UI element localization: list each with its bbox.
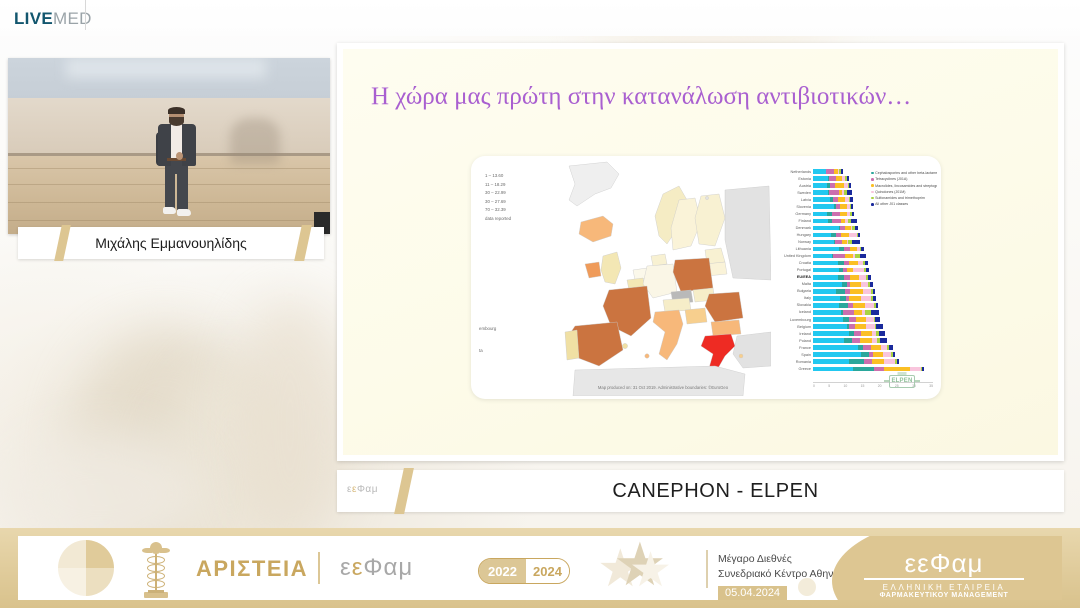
map-inset-label: ta [479, 348, 483, 353]
chart-bar [813, 289, 875, 294]
chart-row-label: Germany [773, 212, 813, 216]
chart-bar-segment [813, 359, 849, 364]
chart-bar [813, 212, 854, 217]
chart-x-tick: 0 [813, 384, 815, 392]
chart-bar-segment [873, 296, 876, 301]
chart-bar-segment [813, 190, 828, 195]
livemed-logo: LIVEMED [14, 9, 92, 29]
chart-bar [813, 359, 899, 364]
chart-bar-segment [850, 197, 853, 202]
chart-bar-segment [861, 331, 872, 336]
map-legend: 1 – 13.60 11 – 18.29 30 – 22.99 30 – 27.… [485, 172, 551, 223]
chart-bar-segment [876, 324, 883, 329]
chart-bar-segment [860, 338, 872, 343]
chart-bar-segment [841, 169, 843, 174]
chart-bar-segment [813, 367, 853, 372]
chart-row-label: United Kingdom [773, 254, 813, 258]
leaf-decoration-icon [58, 540, 114, 596]
chart-bar-segment [854, 310, 862, 315]
footer-divider [318, 552, 320, 584]
event-date-badge: 05.04.2024 [718, 586, 787, 600]
chart-bar-segment [849, 261, 857, 266]
chart-row: Iceland [773, 309, 937, 316]
chart-bar-segment [813, 303, 839, 308]
chart-row-label: France [773, 346, 813, 350]
chart-row: Bulgaria [773, 288, 937, 295]
caduceus-trophy-icon [136, 540, 176, 598]
chart-bar-segment [813, 197, 830, 202]
eefam-small-logo: εεΦαμ [347, 484, 378, 495]
chart-row-label: Slovenia [773, 205, 813, 209]
chart-bar-segment [835, 240, 843, 245]
chart-bar-segment [813, 289, 836, 294]
chart-bar-segment [868, 275, 871, 280]
chart-row-label: Italy [773, 296, 813, 300]
chart-bar-segment [865, 261, 868, 266]
chart-row-label: EU/EEA [773, 275, 813, 279]
chart-bar-segment [813, 345, 858, 350]
chart-bar-segment [852, 212, 854, 217]
chart-row-label: Denmark [773, 226, 813, 230]
eefam-mark-big: εεΦαμ [844, 550, 1044, 576]
chart-row: Romania [773, 358, 937, 365]
venue-name: Μέγαρο Διεθνές Συνεδριακό Κέντρο Αθηνών [718, 552, 847, 582]
header-divider [85, 0, 86, 30]
chart-bar-segment [813, 268, 839, 273]
chart-bar-segment [897, 359, 899, 364]
chart-bar-segment [836, 289, 845, 294]
wall-shadow [230, 118, 280, 164]
chart-bar-segment [840, 212, 847, 217]
chart-row: Luxembourg [773, 316, 937, 323]
chart-bar-segment [849, 296, 861, 301]
screen-highlight [66, 58, 266, 78]
chart-bar-segment [876, 303, 878, 308]
chart-bar-segment [853, 303, 865, 308]
chart-bar-segment [852, 240, 860, 245]
chart-bar-segment [813, 310, 841, 315]
chart-bar-segment [813, 183, 827, 188]
chart-bar-segment [813, 204, 834, 209]
map-legend-item: 70 – 32.39 [485, 206, 551, 215]
chart-bar [813, 275, 871, 280]
chart-bar-segment [839, 303, 847, 308]
chart-row-label: Luxembourg [773, 318, 813, 322]
chart-bar [813, 338, 887, 343]
chart-row: Portugal [773, 267, 937, 274]
chart-bar-segment [826, 169, 833, 174]
chart-row: Norway [773, 238, 937, 245]
chart-row: United Kingdom [773, 253, 937, 260]
session-title: CANEPHON - ELPEN [337, 480, 1064, 503]
chart-bar-segment [884, 359, 896, 364]
map-legend-item: data reported [485, 215, 551, 224]
chart-row-label: Spain [773, 353, 813, 357]
award-label: ΑΡΙΣΤΕΙΑ [196, 556, 308, 582]
chart-legend-item: All other J01 classes [871, 201, 937, 207]
chart-row-label: Greece [773, 367, 813, 371]
chart-x-tick: 5 [828, 384, 830, 392]
chart-row-label: Norway [773, 240, 813, 244]
chart-x-tick: 15 [861, 384, 865, 392]
venue-line-1: Μέγαρο Διεθνές [718, 552, 847, 567]
years-badge: 2022 2024 [478, 558, 570, 584]
venue-line-2: Συνεδριακό Κέντρο Αθηνών [718, 567, 847, 582]
chart-row: Slovakia [773, 302, 937, 309]
chart-row-label: Belgium [773, 325, 813, 329]
chart-bar-segment [813, 317, 843, 322]
chart-row: EU/EEA [773, 274, 937, 281]
chart-bar-segment [871, 310, 879, 315]
logo-live-text: LIVE [14, 9, 53, 28]
chart-row-label: Hungary [773, 233, 813, 237]
blur-shape [235, 300, 345, 550]
chart-bar-segment [813, 212, 827, 217]
chart-row-label: Sweden [773, 191, 813, 195]
chart-row: France [773, 344, 937, 351]
chart-bar-segment [843, 310, 854, 315]
name-plate-accent-left [54, 225, 71, 261]
chart-bar-segment [855, 324, 866, 329]
chart-row-label: Austria [773, 184, 813, 188]
chart-bar-segment [861, 352, 869, 357]
chart-row: Germany [773, 210, 937, 217]
society-line-1: ΕΛΛΗΝΙΚΗ ΕΤΑΙΡΕΙΑ [844, 583, 1044, 592]
chart-bar [813, 176, 849, 181]
chart-row-label: Bulgaria [773, 289, 813, 293]
chart-bar-segment [866, 317, 874, 322]
chart-bar-segment [849, 183, 852, 188]
chart-bar-segment [844, 338, 852, 343]
chart-bar-segment [853, 367, 873, 372]
chart-bar-segment [813, 338, 844, 343]
chart-bar [813, 190, 852, 195]
chart-bar-segment [873, 289, 875, 294]
speaker-name: Μιχάλης Εμμανουηλίδης [95, 235, 247, 251]
chart-row: Malta [773, 281, 937, 288]
footer-inner: ΑΡΙΣΤΕΙΑ εεΦαμ 2022 2024 ★ ★ ★ Μέγαρο Δι… [18, 536, 1062, 600]
chart-row-label: Latvia [773, 198, 813, 202]
chart-bar-segment [860, 254, 867, 259]
chart-bar-segment [813, 275, 838, 280]
map-legend-item: 11 – 18.29 [485, 181, 551, 190]
chart-bar-segment [863, 289, 872, 294]
antibiotic-consumption-bar-chart: NetherlandsEstoniaAustriaSwedenLatviaSlo… [773, 162, 937, 394]
chart-bar-segment [835, 183, 844, 188]
chart-bar [813, 261, 868, 266]
eefam-rule [864, 578, 1024, 580]
chart-row: Poland [773, 337, 937, 344]
chart-bar-segment [845, 254, 853, 259]
chart-bar-segment [838, 197, 845, 202]
chart-bar-segment [813, 331, 849, 336]
chart-bar [813, 268, 869, 273]
chart-bar-segment [813, 254, 832, 259]
chart-bar-segment [889, 345, 893, 350]
chart-bar-segment [841, 233, 849, 238]
chart-bar [813, 204, 853, 209]
chart-row-label: Romania [773, 360, 813, 364]
chart-bar-segment [865, 303, 874, 308]
chart-row: Hungary [773, 231, 937, 238]
map-inset-label: embourg [479, 326, 496, 331]
chart-row: Spain [773, 351, 937, 358]
chart-bar-segment [832, 219, 841, 224]
year-from: 2022 [479, 559, 526, 583]
chart-bar [813, 169, 843, 174]
chart-bar-segment [851, 219, 857, 224]
footer-banner: ΑΡΙΣΤΕΙΑ εεΦαμ 2022 2024 ★ ★ ★ Μέγαρο Δι… [0, 528, 1080, 608]
chart-row: Ireland [773, 330, 937, 337]
slide-container[interactable]: Η χώρα μας πρώτη στην κατανάλωση αντιβιο… [337, 43, 1064, 461]
chart-bar-segment [859, 275, 867, 280]
chart-bar [813, 197, 853, 202]
chart-bar-segment [813, 352, 861, 357]
chart-bar-segment [861, 296, 871, 301]
chart-bar [813, 296, 876, 301]
chart-bar-segment [849, 233, 857, 238]
stage-screen [8, 58, 330, 100]
chart-row-label: Estonia [773, 177, 813, 181]
chart-bar-segment [813, 247, 839, 252]
chart-bar [813, 226, 858, 231]
chart-row: Croatia [773, 260, 937, 267]
chart-bar-segment [871, 345, 881, 350]
chart-bar [813, 345, 893, 350]
elpen-logo-text: ELPEN [889, 375, 915, 388]
chart-bar-segment [855, 226, 858, 231]
dot-decoration-icon [798, 578, 816, 596]
europe-choropleth-map [555, 160, 771, 396]
chart-bar [813, 183, 851, 188]
year-to: 2024 [526, 559, 569, 583]
chart-legend: Cephalosporins and other beta-lactamsTet… [871, 170, 937, 208]
chart-bar [813, 233, 860, 238]
figure-card: 1 – 13.60 11 – 18.29 30 – 22.99 30 – 27.… [471, 156, 941, 399]
chart-bar-segment [879, 331, 884, 336]
chart-bar-segment [858, 233, 860, 238]
chart-bar-segment [872, 359, 883, 364]
chart-bar [813, 317, 880, 322]
elpen-logo: ELPEN [879, 371, 925, 391]
chart-bar-segment [832, 212, 840, 217]
chart-row: Belgium [773, 323, 937, 330]
header-bar [0, 0, 1080, 36]
chart-row-label: Iceland [773, 310, 813, 314]
chart-row-label: Lithuania [773, 247, 813, 251]
chart-bar-segment [893, 352, 895, 357]
chart-bar-segment [850, 275, 859, 280]
slide-title: Η χώρα μας πρώτη στην κατανάλωση αντιβιο… [371, 81, 1011, 113]
chart-bar-segment [813, 240, 834, 245]
chart-bar [813, 282, 873, 287]
speaker-name-plate: Μιχάλης Εμμανουηλίδης [18, 227, 324, 259]
chart-row: Finland [773, 217, 937, 224]
chart-bar-segment [847, 190, 852, 195]
star-decoration-icon: ★ ★ ★ [593, 540, 703, 598]
chart-bar-segment [813, 296, 840, 301]
chart-bar [813, 247, 864, 252]
footer-divider-2 [706, 550, 708, 588]
chart-bar-segment [833, 254, 845, 259]
chart-bar-segment [853, 268, 864, 273]
chart-bar [813, 240, 860, 245]
chart-x-tick: 10 [844, 384, 848, 392]
chart-bar [813, 219, 857, 224]
chart-bar [813, 310, 879, 315]
chart-row-label: Poland [773, 339, 813, 343]
chart-row-label: Croatia [773, 261, 813, 265]
chart-bar-segment [861, 247, 864, 252]
chart-row-label: Slovakia [773, 303, 813, 307]
chart-bar-segment [813, 169, 826, 174]
chart-bar-segment [883, 352, 892, 357]
chart-bar-segment [870, 282, 873, 287]
chart-bar-segment [813, 261, 838, 266]
chart-bar-segment [813, 226, 839, 231]
chart-bar-segment [849, 359, 864, 364]
chart-bar-segment [866, 268, 869, 273]
chart-bar-segment [813, 233, 831, 238]
eefam-society-logo: εεΦαμ ΕΛΛΗΝΙΚΗ ΕΤΑΙΡΕΙΑ ΦΑΡΜΑΚΕΥΤΙΚΟΥ MA… [844, 550, 1044, 599]
chart-bar-segment [856, 317, 866, 322]
chart-bar-segment [875, 317, 880, 322]
speaker-figure [154, 108, 200, 218]
chart-bar-segment [813, 219, 828, 224]
name-plate-accent-right [294, 225, 312, 261]
chart-bar-segment [813, 176, 828, 181]
chart-x-tick: 35 [929, 384, 933, 392]
chart-bar-segment [864, 359, 872, 364]
chart-bar-segment [873, 352, 883, 357]
chart-bar [813, 254, 866, 259]
chart-bar-segment [880, 338, 888, 343]
map-legend-item: 30 – 22.99 [485, 189, 551, 198]
chart-bar-segment [854, 331, 862, 336]
chart-bar-segment [863, 345, 872, 350]
chart-bar [813, 331, 885, 336]
chart-bar [813, 303, 878, 308]
chart-bar-segment [813, 282, 842, 287]
map-caption: Map produced on: 31 Oct 2019. Administra… [563, 385, 763, 390]
chart-row-label: Portugal [773, 268, 813, 272]
chart-row: Denmark [773, 224, 937, 231]
speaker-video[interactable] [8, 58, 330, 234]
chart-row-label: Ireland [773, 332, 813, 336]
chart-bar [813, 352, 895, 357]
chart-row: Italy [773, 295, 937, 302]
chart-row-label: Malta [773, 282, 813, 286]
chart-row: Lithuania [773, 246, 937, 253]
map-legend-item: 30 – 27.69 [485, 198, 551, 207]
chart-bar-segment [852, 338, 860, 343]
chart-bar-segment [850, 289, 862, 294]
chart-bar-segment [861, 282, 868, 287]
chart-bar-segment [850, 247, 857, 252]
session-title-bar: εεΦαμ CANEPHON - ELPEN [337, 470, 1064, 512]
eefam-logo-mark: εεΦαμ [340, 554, 413, 582]
society-line-2: ΦΑΡΜΑΚΕΥΤΙΚΟΥ MANAGEMENT [844, 592, 1044, 599]
chart-bar-segment [829, 190, 840, 195]
chart-bar-segment [850, 282, 861, 287]
chart-bar-segment [847, 176, 849, 181]
chart-bar-segment [851, 204, 853, 209]
slide: Η χώρα μας πρώτη στην κατανάλωση αντιβιο… [343, 49, 1058, 455]
chart-bar-segment [813, 324, 847, 329]
map-legend-item: 1 – 13.60 [485, 172, 551, 181]
chart-row-label: Finland [773, 219, 813, 223]
chart-bar [813, 324, 883, 329]
chart-bar-segment [866, 324, 874, 329]
chart-row-label: Netherlands [773, 170, 813, 174]
chart-legend-item: Macrolides, lincosamides and streptogram… [871, 183, 937, 189]
